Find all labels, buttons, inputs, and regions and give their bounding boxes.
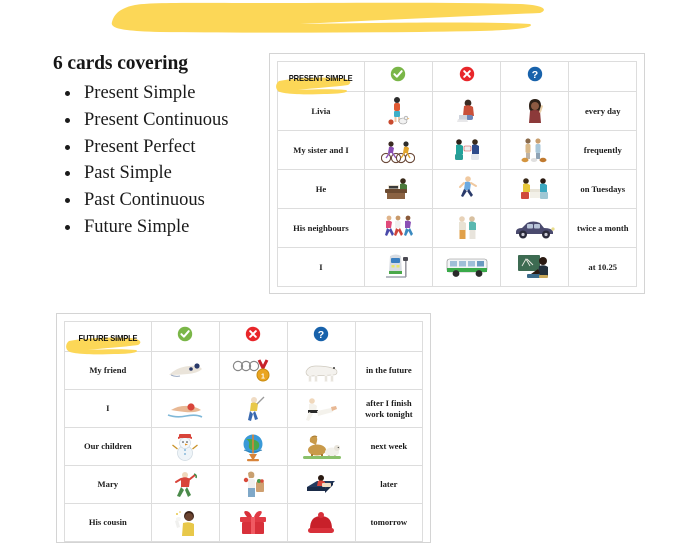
woman-with-laptop-icon xyxy=(433,92,501,131)
list-item: Past Simple xyxy=(53,160,268,187)
time-cell: frequently xyxy=(569,131,637,170)
man-at-market-stall-icon xyxy=(364,170,432,209)
subject-cell: My friend xyxy=(65,352,152,390)
person-in-red-coat-dancing-icon xyxy=(151,466,219,504)
family-walking-dogs-icon xyxy=(501,131,569,170)
train-at-station-icon xyxy=(364,248,432,287)
tense-label-text: FUTURE SIMPLE xyxy=(72,337,144,341)
woman-with-grocery-bag-icon xyxy=(219,466,287,504)
tense-summary-panel: 6 cards covering Present Simple Present … xyxy=(53,53,268,241)
table-row: Mary later xyxy=(65,466,423,504)
question-header-cell: ? xyxy=(501,62,569,92)
time-cell: at 10.25 xyxy=(569,248,637,287)
bullet-icon xyxy=(65,145,70,150)
future-simple-table: FUTURE SIMPLE ? xyxy=(64,321,423,542)
child-feeding-chickens-icon xyxy=(364,92,432,131)
vintage-car-icon xyxy=(501,209,569,248)
affirmative-header-cell xyxy=(364,62,432,92)
tense-label-highlight: PRESENT SIMPLE xyxy=(279,77,362,81)
subject-cell: My sister and I xyxy=(278,131,365,170)
subject-cell: I xyxy=(65,390,152,428)
time-cell: in the future xyxy=(355,352,422,390)
table-row: His cousin tomorrow xyxy=(65,504,423,542)
svg-text:1: 1 xyxy=(261,373,265,380)
green-city-bus-icon xyxy=(433,248,501,287)
two-people-cycling-icon xyxy=(364,131,432,170)
question-header-cell: ? xyxy=(287,322,355,352)
list-item-label: Present Continuous xyxy=(84,110,228,130)
table-row: His neighbours twice a month xyxy=(278,209,637,248)
bullet-icon xyxy=(65,225,70,230)
list-item: Present Perfect xyxy=(53,134,268,161)
brush-stroke-svg xyxy=(0,0,700,40)
snowman-icon xyxy=(151,428,219,466)
time-cell: on Tuesdays xyxy=(569,170,637,209)
blue-question-icon: ? xyxy=(313,326,329,342)
negative-header-cell xyxy=(219,322,287,352)
bullet-icon xyxy=(65,198,70,203)
subject-cell: Mary xyxy=(65,466,152,504)
red-cross-icon xyxy=(459,66,475,82)
table-header-row: FUTURE SIMPLE ? xyxy=(65,322,423,352)
red-cross-icon xyxy=(245,326,261,342)
list-item: Future Simple xyxy=(53,214,268,241)
table-row: Our children next week xyxy=(65,428,423,466)
table-row: My sister and I frequently xyxy=(278,131,637,170)
list-item-label: Present Simple xyxy=(84,83,196,103)
tense-label-highlight: FUTURE SIMPLE xyxy=(69,337,147,341)
karate-kick-icon xyxy=(287,390,355,428)
time-cell: later xyxy=(355,466,422,504)
affirmative-header-cell xyxy=(151,322,219,352)
student-at-blackboard-icon xyxy=(501,248,569,287)
table-row: Livia every day xyxy=(278,92,637,131)
bullet-icon xyxy=(65,118,70,123)
negative-header-cell xyxy=(433,62,501,92)
golfer-swinging-icon xyxy=(219,390,287,428)
doctor-with-patient-icon xyxy=(433,131,501,170)
present-simple-card[interactable]: PRESENT SIMPLE ? xyxy=(269,53,645,294)
two-people-at-desk-icon xyxy=(501,170,569,209)
list-item-label: Past Simple xyxy=(84,163,172,183)
future-simple-card[interactable]: FUTURE SIMPLE ? xyxy=(56,313,431,543)
tense-label-text: PRESENT SIMPLE xyxy=(283,77,360,81)
top-highlighter-stroke xyxy=(0,0,700,40)
svg-text:?: ? xyxy=(318,329,324,341)
time-cell: next week xyxy=(355,428,422,466)
woman-brushing-hair-icon xyxy=(501,92,569,131)
table-header-row: PRESENT SIMPLE ? xyxy=(278,62,637,92)
woman-with-champagne-icon xyxy=(151,504,219,542)
person-swimming-icon xyxy=(151,390,219,428)
green-check-icon xyxy=(177,326,193,342)
table-row: I after I finish work tonight xyxy=(65,390,423,428)
subject-cell: I xyxy=(278,248,365,287)
elderly-couple-walking-icon xyxy=(433,209,501,248)
present-simple-table: PRESENT SIMPLE ? xyxy=(277,61,637,287)
table-row: I at 10.25 xyxy=(278,248,637,287)
tense-label-cell: FUTURE SIMPLE xyxy=(65,322,152,352)
person-diving-icon xyxy=(151,352,219,390)
list-item: Past Continuous xyxy=(53,187,268,214)
blue-question-icon: ? xyxy=(527,66,543,82)
page-title: 6 cards covering xyxy=(53,53,268,75)
time-cell: every day xyxy=(569,92,637,131)
subject-cell: Our children xyxy=(65,428,152,466)
list-item-label: Future Simple xyxy=(84,217,189,237)
time-cell: twice a month xyxy=(569,209,637,248)
list-item-label: Present Perfect xyxy=(84,137,195,157)
list-item: Present Simple xyxy=(53,80,268,107)
tense-list: Present Simple Present Continuous Presen… xyxy=(53,80,268,241)
bullet-icon xyxy=(65,171,70,176)
table-row: My friend 1 in the future xyxy=(65,352,423,390)
time-cell: tomorrow xyxy=(355,504,422,542)
green-check-icon xyxy=(390,66,406,82)
group-of-runners-icon xyxy=(364,209,432,248)
time-cell: after I finish work tonight xyxy=(355,390,422,428)
list-item: Present Continuous xyxy=(53,107,268,134)
subject-cell: He xyxy=(278,170,365,209)
list-item-label: Past Continuous xyxy=(84,190,205,210)
olympic-rings-with-gold-medal-icon: 1 xyxy=(219,352,287,390)
subject-cell: His cousin xyxy=(65,504,152,542)
time-header-cell xyxy=(355,322,422,352)
tense-label-cell: PRESENT SIMPLE xyxy=(278,62,365,92)
man-running-icon xyxy=(433,170,501,209)
subject-cell: His neighbours xyxy=(278,209,365,248)
subject-cell: Livia xyxy=(278,92,365,131)
time-header-cell xyxy=(569,62,637,92)
person-reading-on-bed-icon xyxy=(287,466,355,504)
polar-bear-icon xyxy=(287,352,355,390)
globe-on-stand-icon xyxy=(219,428,287,466)
bullet-icon xyxy=(65,91,70,96)
brush-path xyxy=(112,3,544,33)
table-row: He on Tuesdays xyxy=(278,170,637,209)
farm-animals-icon xyxy=(287,428,355,466)
red-gift-box-icon xyxy=(219,504,287,542)
svg-text:?: ? xyxy=(532,69,538,81)
red-knitted-hat-icon xyxy=(287,504,355,542)
